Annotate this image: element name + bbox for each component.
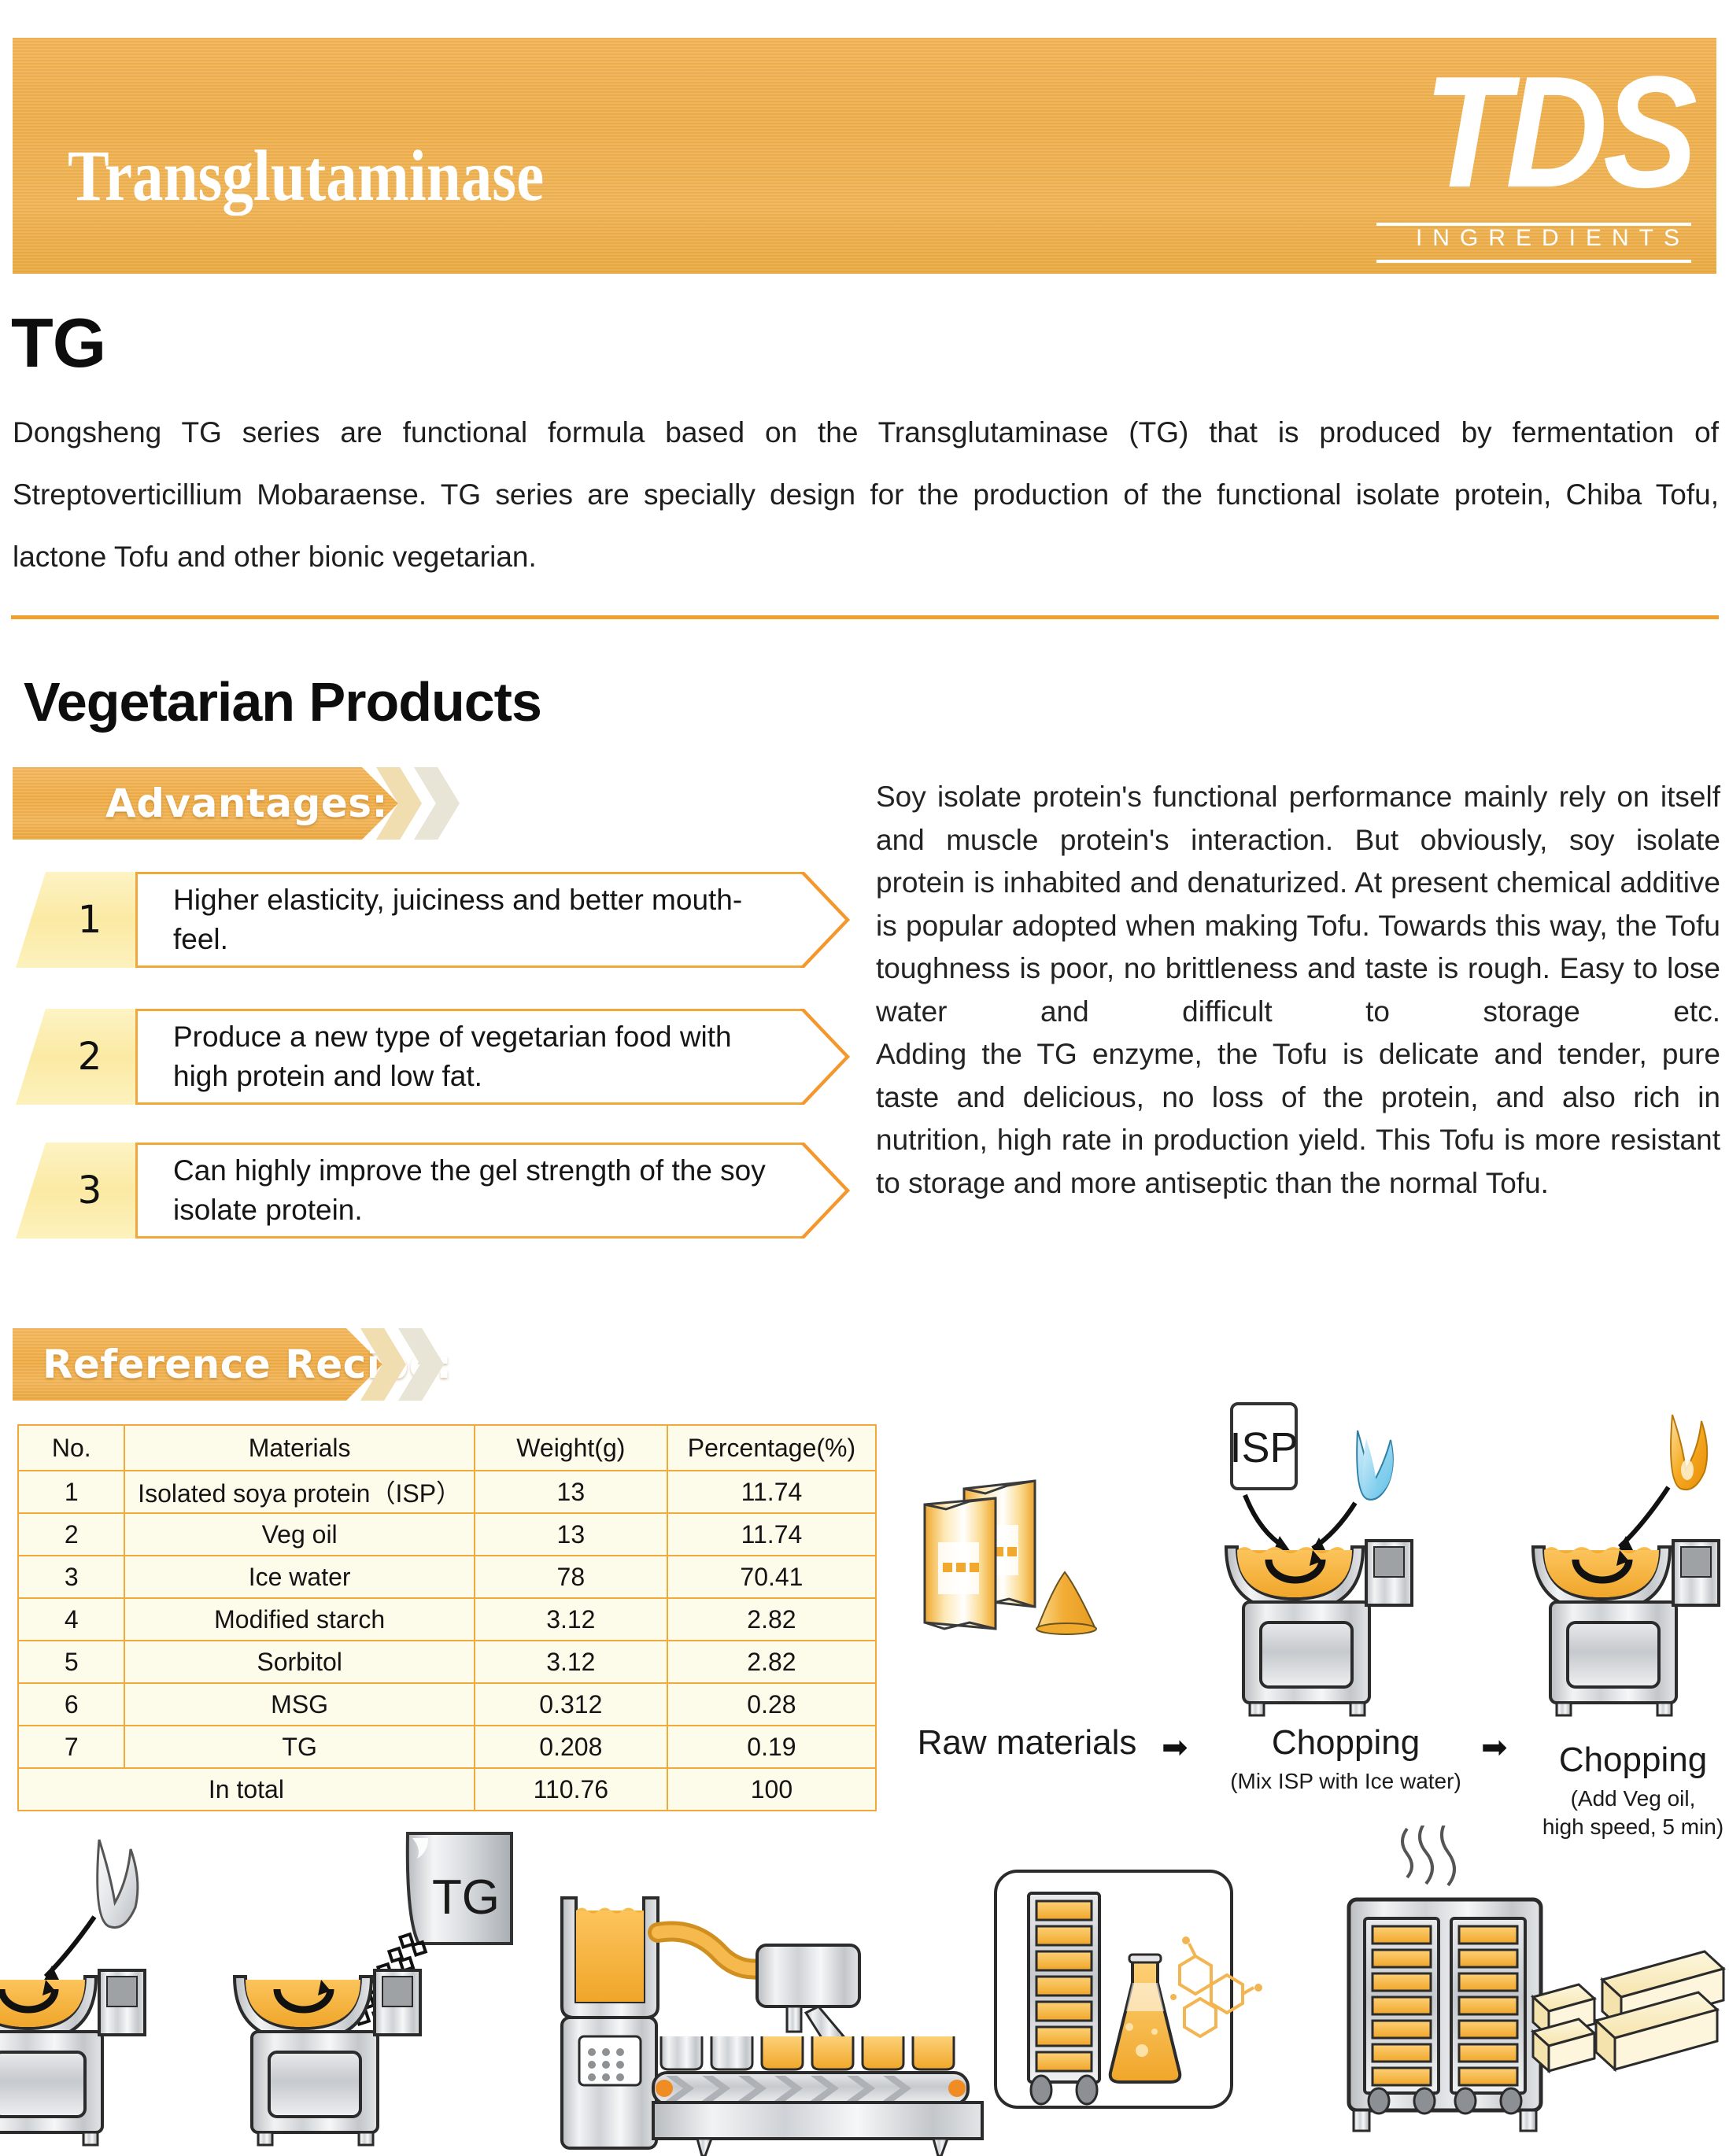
chopping-oil-illustration [1533,1415,1719,1715]
advantage-item: 1 Higher elasticity, juiciness and bette… [16,872,850,968]
steam-cooker-illustration [1349,1826,1541,2131]
description-paragraph-2: Adding the TG enzyme, the Tofu is delica… [876,1033,1720,1205]
reference-recipe-table: No. Materials Weight(g) Percentage(%) 1 … [17,1424,877,1811]
column-header-materials: Materials [124,1425,474,1471]
arrow-right-icon: ➡ [1481,1730,1503,1766]
cell-material: Modified starch [124,1598,474,1641]
table-header-row: No. Materials Weight(g) Percentage(%) [18,1425,876,1471]
page-title: Transglutaminase [68,134,544,217]
tg-description: Dongsheng TG series are functional formu… [13,401,1719,588]
table-total-row: In total 110.76 100 [18,1768,876,1811]
chopping-isp-illustration: ISP [1226,1404,1412,1715]
cell-no: 1 [18,1471,124,1513]
cell-material: MSG [124,1683,474,1726]
arrow-right-icon: ➡ [1162,1730,1184,1766]
advantage-number: 1 [78,898,102,942]
cell-weight: 0.312 [475,1683,667,1726]
header-banner: Transglutaminase TDS INGREDIENTS [13,38,1716,274]
process-step-labels: Raw materials ➡ Chopping (Mix ISP with I… [897,1723,1723,1833]
process-step-chopping-1: Chopping (Mix ISP with Ice water) [1212,1723,1480,1796]
cell-weight: 13 [475,1471,667,1513]
advantage-item: 3 Can highly improve the gel strength of… [16,1143,850,1239]
column-header-percentage: Percentage(%) [667,1425,876,1471]
cell-no: 5 [18,1641,124,1683]
advantage-text: Can highly improve the gel strength of t… [173,1143,771,1239]
table-row: 7 TG 0.208 0.19 [18,1726,876,1768]
process-diagram-bottom: TG [0,1826,1729,2156]
cell-no: 3 [18,1556,124,1598]
raw-materials-illustration [925,1481,1096,1634]
cell-percentage: 0.28 [667,1683,876,1726]
vegetarian-description: Soy isolate protein's functional perform… [876,776,1720,1205]
chopping-water-illustration [0,1840,145,2145]
cell-material: Ice water [124,1556,474,1598]
reference-recipe-banner: Reference Recipe: [13,1328,485,1401]
cell-percentage: 11.74 [667,1471,876,1513]
cell-material: TG [124,1726,474,1768]
table-row: 5 Sorbitol 3.12 2.82 [18,1641,876,1683]
cell-material: Veg oil [124,1513,474,1556]
column-header-no: No. [18,1425,124,1471]
cell-percentage: 0.19 [667,1726,876,1768]
cell-no: 7 [18,1726,124,1768]
table-row: 6 MSG 0.312 0.28 [18,1683,876,1726]
tg-bag-label: TG [432,1870,500,1925]
tds-logo: TDS INGREDIENTS [1347,54,1693,266]
cell-no: 2 [18,1513,124,1556]
tg-heading: TG [11,308,105,378]
cell-weight: 3.12 [475,1641,667,1683]
cell-no: 6 [18,1683,124,1726]
vegetarian-products-heading: Vegetarian Products [24,670,541,733]
process-diagram-top: ISP [897,1393,1723,1723]
section-divider [11,615,1719,619]
cell-total-label: In total [18,1768,475,1811]
cell-percentage: 70.41 [667,1556,876,1598]
description-paragraph-1: Soy isolate protein's functional perform… [876,776,1720,1033]
logo-rule-bottom [1376,260,1691,263]
cell-percentage: 11.74 [667,1513,876,1556]
column-header-weight: Weight(g) [475,1425,667,1471]
advantages-banner: Advantages: [13,767,485,840]
cell-weight: 78 [475,1556,667,1598]
advantage-text: Produce a new type of vegetarian food wi… [173,1009,771,1105]
process-step-raw-materials: Raw materials [889,1723,1165,1763]
cell-total-weight: 110.76 [475,1768,667,1811]
cell-material: Isolated soya protein（ISP） [124,1471,474,1513]
table-row: 2 Veg oil 13 11.74 [18,1513,876,1556]
advantage-text: Higher elasticity, juiciness and better … [173,872,771,968]
table-row: 1 Isolated soya protein（ISP） 13 11.74 [18,1471,876,1513]
cell-no: 4 [18,1598,124,1641]
cell-weight: 0.208 [475,1726,667,1768]
enzyme-reaction-illustration [996,1871,1262,2107]
cell-percentage: 2.82 [667,1598,876,1641]
cell-weight: 3.12 [475,1598,667,1641]
finished-tofu-illustration [1533,1951,1723,2071]
isp-bag-label: ISP [1229,1424,1298,1471]
advantages-banner-label: Advantages: [105,767,388,840]
advantage-item: 2 Produce a new type of vegetarian food … [16,1009,850,1105]
table-row: 3 Ice water 78 70.41 [18,1556,876,1598]
logo-tagline: INGREDIENTS [1375,225,1690,252]
chopping-tg-illustration: TG [235,1833,512,2145]
cell-weight: 13 [475,1513,667,1556]
table-row: 4 Modified starch 3.12 2.82 [18,1598,876,1641]
advantage-number: 2 [78,1035,102,1079]
cell-material: Sorbitol [124,1641,474,1683]
advantage-number: 3 [78,1168,102,1213]
filling-line-illustration [562,1898,982,2156]
cell-percentage: 2.82 [667,1641,876,1683]
logo-wordmark: TDS [1347,54,1693,212]
cell-total-percentage: 100 [667,1768,876,1811]
